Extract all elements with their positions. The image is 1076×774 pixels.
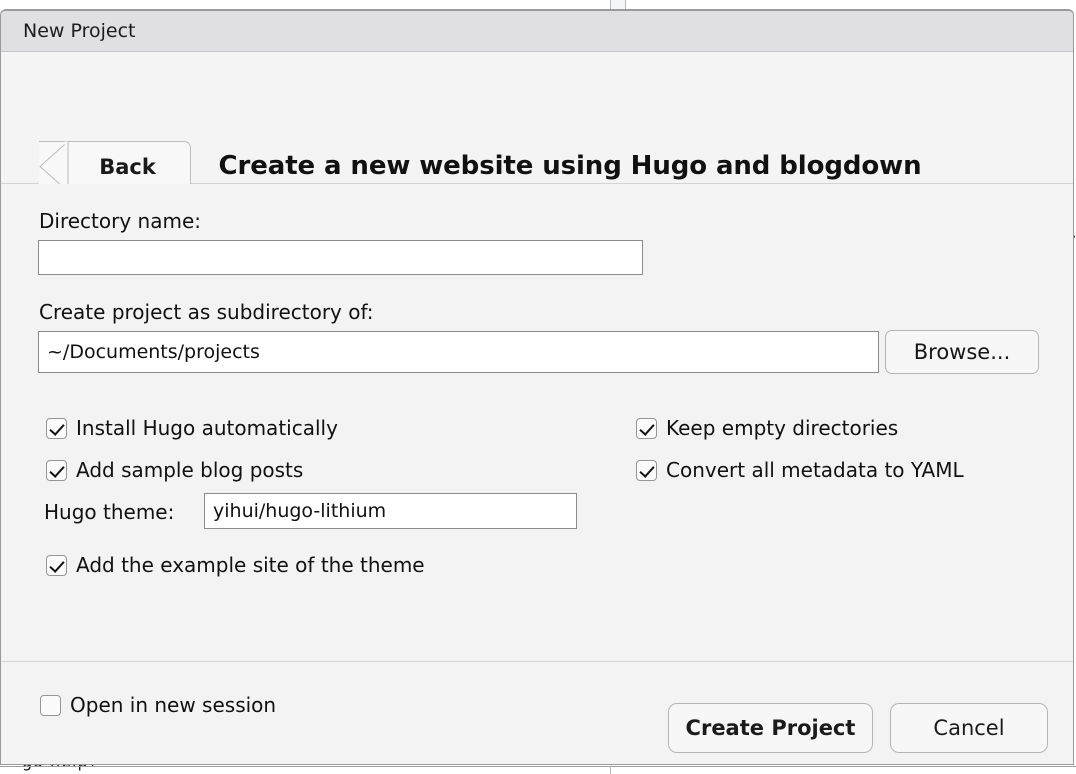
hugo-theme-label: Hugo theme:	[44, 500, 174, 524]
checkbox-label: Add sample blog posts	[76, 458, 303, 482]
checkbox-icon[interactable]	[46, 555, 67, 576]
checkbox-label: Keep empty directories	[666, 416, 898, 440]
checkbox-example-site[interactable]: Add the example site of the theme	[46, 553, 425, 577]
background-divider-right	[625, 0, 626, 9]
subdirectory-input[interactable]	[38, 331, 879, 373]
dialog-header: Back Create a new website using Hugo and…	[1, 52, 1073, 184]
directory-name-label: Directory name:	[39, 209, 201, 233]
checkbox-sample-blog-posts[interactable]: Add sample blog posts	[46, 458, 303, 482]
new-project-dialog: New Project Back Create a new website us…	[0, 9, 1074, 765]
create-project-button[interactable]: Create Project	[668, 703, 873, 753]
hugo-theme-input[interactable]	[204, 493, 577, 529]
checkbox-open-new-session[interactable]: Open in new session	[40, 693, 276, 717]
checkbox-icon[interactable]	[40, 695, 61, 716]
page-title: Create a new website using Hugo and blog…	[1, 151, 1073, 181]
dialog-titlebar[interactable]: New Project	[1, 11, 1073, 52]
checkbox-icon[interactable]	[46, 418, 67, 439]
browse-button[interactable]: Browse...	[885, 330, 1039, 374]
dialog-body: Directory name: Create project as subdir…	[1, 184, 1073, 662]
checkbox-label: Install Hugo automatically	[76, 416, 338, 440]
dialog-title: New Project	[23, 20, 136, 42]
cancel-button[interactable]: Cancel	[890, 703, 1048, 753]
back-button-label: Back	[99, 155, 156, 179]
background-divider-left	[610, 0, 611, 9]
checkbox-label: Convert all metadata to YAML	[666, 458, 964, 482]
background-bottom-divider	[610, 766, 611, 774]
checkbox-icon[interactable]	[636, 460, 657, 481]
checkbox-convert-metadata-yaml[interactable]: Convert all metadata to YAML	[636, 458, 964, 482]
directory-name-input[interactable]	[38, 240, 643, 275]
checkbox-icon[interactable]	[636, 418, 657, 439]
checkbox-keep-empty-directories[interactable]: Keep empty directories	[636, 416, 898, 440]
checkbox-install-hugo[interactable]: Install Hugo automatically	[46, 416, 338, 440]
checkbox-label: Open in new session	[70, 693, 276, 717]
checkbox-icon[interactable]	[46, 460, 67, 481]
background-bottom-rule	[0, 766, 1076, 767]
background-top-strip	[0, 0, 1076, 9]
subdirectory-label: Create project as subdirectory of:	[39, 300, 374, 324]
checkbox-label: Add the example site of the theme	[76, 553, 425, 577]
background-pane-gap	[611, 0, 625, 9]
